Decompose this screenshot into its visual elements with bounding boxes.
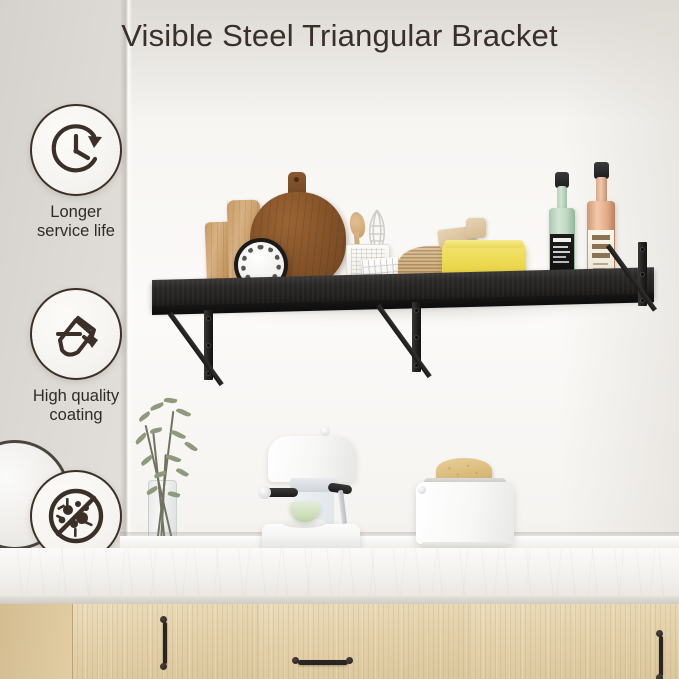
bracket-left bbox=[178, 310, 238, 382]
paint-roller-icon bbox=[30, 288, 122, 380]
cabinet-handle-1[interactable] bbox=[160, 616, 170, 670]
cabinet-run bbox=[0, 604, 679, 679]
page-title: Visible Steel Triangular Bracket bbox=[0, 18, 679, 54]
whisk-icon bbox=[366, 208, 388, 248]
bracket-right bbox=[614, 242, 664, 308]
feature-badge-coating: High qualitycoating bbox=[28, 288, 124, 425]
olive-branch-group bbox=[120, 392, 230, 542]
cabinet-door-3 bbox=[258, 604, 471, 679]
kitchen-countertop bbox=[0, 548, 679, 600]
feature-caption-coating: High qualitycoating bbox=[28, 387, 124, 425]
clock-arrow-icon bbox=[30, 104, 122, 196]
feature-caption-longevity: Longerservice life bbox=[28, 203, 124, 241]
cabinet-handle-3[interactable] bbox=[656, 630, 666, 679]
cabinet-handle-2[interactable] bbox=[292, 656, 354, 668]
product-marketing-image: Visible Steel Triangular Bracket bbox=[0, 0, 679, 679]
cabinet-door-4 bbox=[470, 604, 679, 679]
espresso-machine bbox=[256, 432, 366, 550]
feature-badge-longevity: Longerservice life bbox=[28, 104, 124, 241]
bracket-center bbox=[384, 302, 442, 374]
toaster bbox=[412, 462, 518, 552]
cabinet-side-panel bbox=[0, 604, 73, 679]
